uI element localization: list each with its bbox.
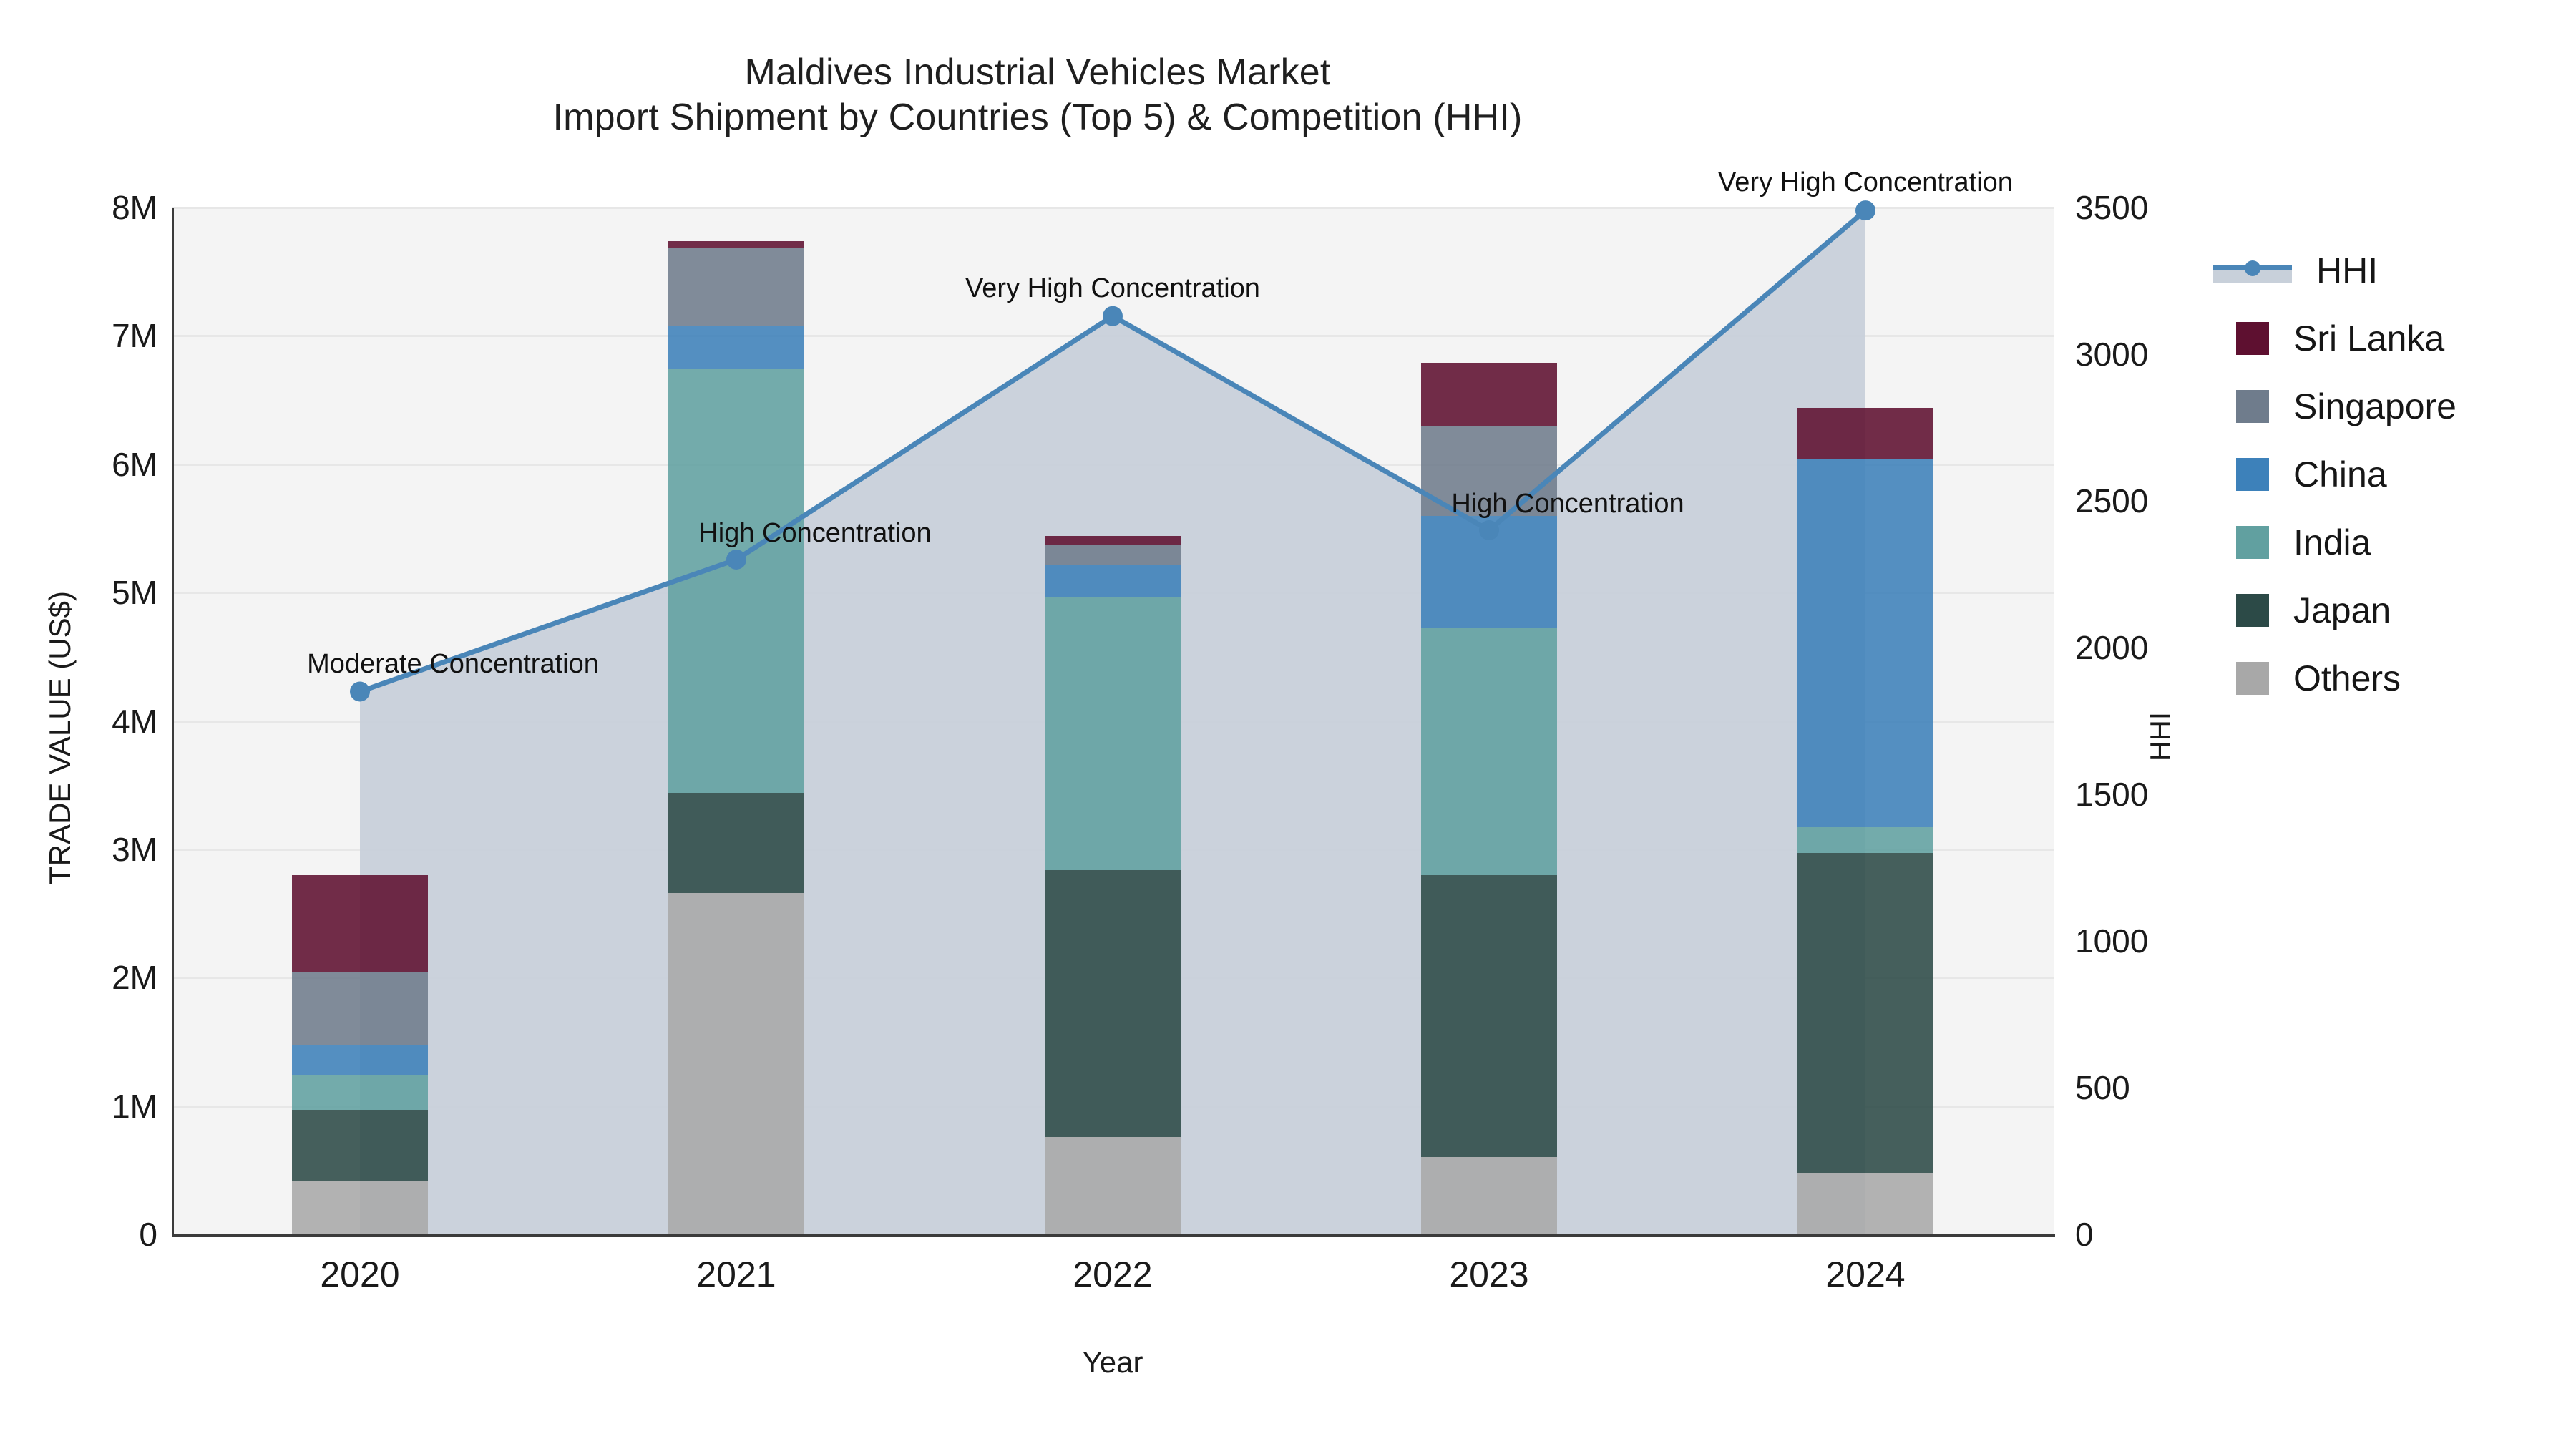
legend-item-label: China xyxy=(2293,454,2387,495)
x-axis-tick-label: 2024 xyxy=(1758,1254,1973,1295)
bar-segment[interactable] xyxy=(1421,628,1557,875)
y2-axis-tick-label: 2000 xyxy=(2075,628,2233,667)
legend-item[interactable]: Singapore xyxy=(2236,372,2457,440)
y-axis-line xyxy=(172,208,174,1234)
bar-segment[interactable] xyxy=(1045,545,1181,566)
bar-segment[interactable] xyxy=(1421,516,1557,628)
chart-title-block: Maldives Industrial Vehicles Market Impo… xyxy=(0,50,2075,141)
y2-axis-tick-label: 2500 xyxy=(2075,482,2233,520)
hhi-annotation-label: Very High Concentration xyxy=(1718,167,2013,198)
legend-item-label: Singapore xyxy=(2293,386,2457,427)
hhi-annotation-label: Very High Concentration xyxy=(965,273,1260,304)
bar-segment[interactable] xyxy=(1797,408,1933,459)
y2-axis-tick-label: 500 xyxy=(2075,1068,2233,1107)
y-axis-tick-label: 6M xyxy=(7,445,157,484)
hhi-annotation-label: High Concentration xyxy=(1451,489,1684,519)
bar-segment[interactable] xyxy=(1797,853,1933,1173)
plot-area xyxy=(172,208,2054,1234)
bar-segment[interactable] xyxy=(668,369,804,793)
bar-segment[interactable] xyxy=(668,793,804,893)
bar-stack[interactable] xyxy=(1797,208,1933,1234)
bar-segment[interactable] xyxy=(668,241,804,249)
y2-axis-tick-label: 3500 xyxy=(2075,188,2233,227)
legend-item[interactable]: Others xyxy=(2236,644,2457,712)
y-axis-tick-label: 8M xyxy=(7,188,157,227)
y-axis-tick-label: 3M xyxy=(7,830,157,869)
x-axis-tick-label: 2021 xyxy=(629,1254,844,1295)
bar-segment[interactable] xyxy=(1045,1137,1181,1234)
chart-legend: HHISri LankaSingaporeChinaIndiaJapanOthe… xyxy=(2236,236,2457,712)
legend-item-label: Japan xyxy=(2293,590,2391,631)
legend-item-label: Others xyxy=(2293,658,2401,699)
bar-segment[interactable] xyxy=(1797,827,1933,853)
legend-marker-icon xyxy=(2245,260,2260,276)
hhi-annotation-label: Moderate Concentration xyxy=(307,649,599,680)
y-axis-tick-label: 4M xyxy=(7,702,157,741)
y-axis-tick-label: 1M xyxy=(7,1087,157,1126)
bar-segment[interactable] xyxy=(1421,363,1557,426)
bar-stack[interactable] xyxy=(668,208,804,1234)
bar-segment[interactable] xyxy=(668,248,804,326)
bar-segment[interactable] xyxy=(1045,565,1181,597)
hhi-annotation-label: High Concentration xyxy=(698,518,931,549)
bar-segment[interactable] xyxy=(1421,1157,1557,1234)
y2-axis-tick-label: 3000 xyxy=(2075,335,2233,374)
bar-segment[interactable] xyxy=(1045,870,1181,1137)
bar-stack[interactable] xyxy=(1045,208,1181,1234)
legend-item[interactable]: HHI xyxy=(2236,236,2457,304)
y2-axis-tick-label: 1000 xyxy=(2075,922,2233,960)
legend-item-label: India xyxy=(2293,522,2371,563)
y-axis-tick-label: 5M xyxy=(7,573,157,612)
legend-item[interactable]: India xyxy=(2236,508,2457,576)
x-axis-tick-label: 2022 xyxy=(1005,1254,1220,1295)
bar-segment[interactable] xyxy=(292,1181,428,1234)
y2-axis-tick-label: 1500 xyxy=(2075,775,2233,814)
legend-item[interactable]: Japan xyxy=(2236,576,2457,644)
bar-segment[interactable] xyxy=(292,875,428,972)
legend-color-swatch xyxy=(2236,458,2269,491)
bar-segment[interactable] xyxy=(292,1110,428,1181)
bar-segment[interactable] xyxy=(668,893,804,1234)
legend-color-swatch xyxy=(2236,526,2269,559)
legend-color-swatch xyxy=(2236,662,2269,695)
chart-title: Maldives Industrial Vehicles Market xyxy=(0,50,2075,95)
legend-color-swatch xyxy=(2236,390,2269,423)
y2-axis-tick-label: 0 xyxy=(2075,1215,2233,1254)
bar-segment[interactable] xyxy=(1797,1173,1933,1234)
legend-item[interactable]: Sri Lanka xyxy=(2236,304,2457,372)
x-axis-tick-label: 2020 xyxy=(253,1254,467,1295)
bar-segment[interactable] xyxy=(668,326,804,369)
bar-segment[interactable] xyxy=(292,972,428,1045)
bar-segment[interactable] xyxy=(1045,536,1181,545)
chart-canvas: Maldives Industrial Vehicles Market Impo… xyxy=(0,0,2576,1449)
legend-item-label: Sri Lanka xyxy=(2293,318,2444,359)
legend-color-swatch xyxy=(2236,594,2269,627)
x-axis-title: Year xyxy=(172,1345,2054,1380)
y-axis-tick-label: 7M xyxy=(7,316,157,355)
x-axis-line xyxy=(172,1234,2055,1237)
bar-segment[interactable] xyxy=(1421,875,1557,1158)
y-axis-tick-label: 2M xyxy=(7,958,157,997)
bar-segment[interactable] xyxy=(1045,597,1181,869)
bar-stack[interactable] xyxy=(1421,208,1557,1234)
bar-segment[interactable] xyxy=(292,1045,428,1075)
chart-subtitle: Import Shipment by Countries (Top 5) & C… xyxy=(0,95,2075,140)
legend-item[interactable]: China xyxy=(2236,440,2457,508)
legend-line-icon xyxy=(2213,254,2292,287)
bar-segment[interactable] xyxy=(292,1075,428,1110)
x-axis-tick-label: 2023 xyxy=(1382,1254,1596,1295)
legend-color-swatch xyxy=(2236,322,2269,355)
y-axis-tick-label: 0 xyxy=(7,1215,157,1254)
bar-segment[interactable] xyxy=(1797,459,1933,828)
legend-item-label: HHI xyxy=(2316,250,2378,291)
bar-stack[interactable] xyxy=(292,208,428,1234)
